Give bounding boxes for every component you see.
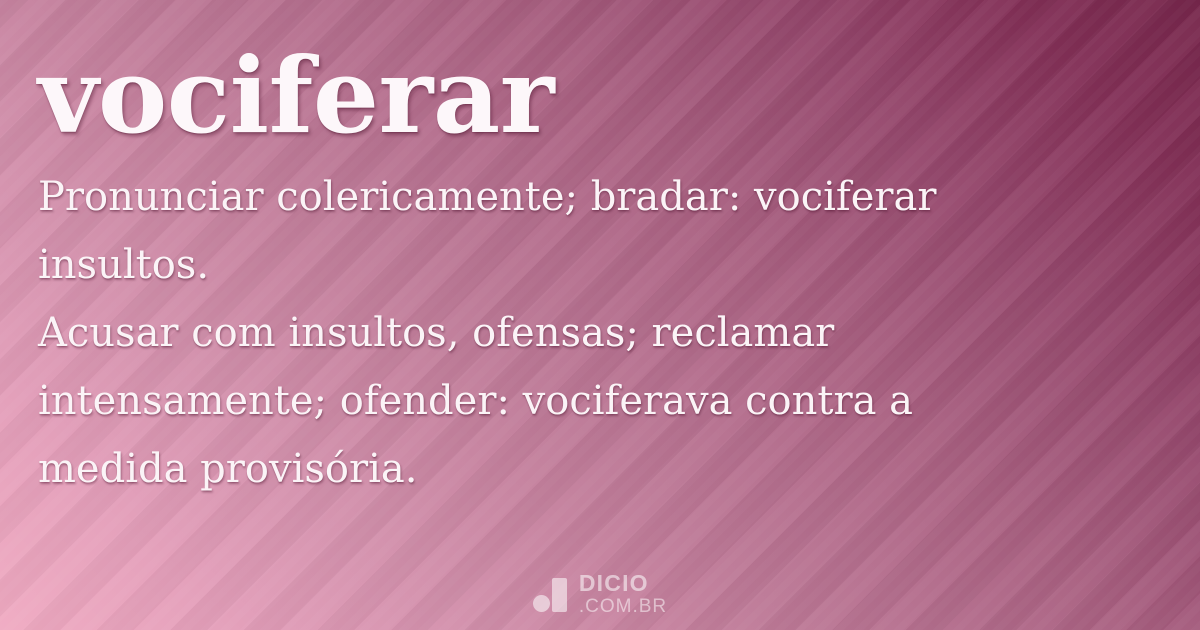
logo-name: DICIO xyxy=(579,572,667,595)
card-content: vociferar Pronunciar colericamente; brad… xyxy=(0,0,1200,630)
dicio-logo: DICIO .COM.BR xyxy=(0,572,1200,616)
definition-list: Pronunciar colericamente; bradar: vocife… xyxy=(38,163,1073,503)
logo-domain: .COM.BR xyxy=(579,597,667,616)
bar-icon xyxy=(552,578,567,612)
logo-mark-icon xyxy=(533,576,567,612)
logo-text: DICIO .COM.BR xyxy=(579,572,667,616)
page-title: vociferar xyxy=(38,0,1162,163)
definition-item: Acusar com insultos, ofensas; reclamar i… xyxy=(38,299,1073,503)
circle-icon xyxy=(533,595,550,612)
definition-item: Pronunciar colericamente; bradar: vocife… xyxy=(38,163,1073,299)
word-card: vociferar Pronunciar colericamente; brad… xyxy=(0,0,1200,630)
